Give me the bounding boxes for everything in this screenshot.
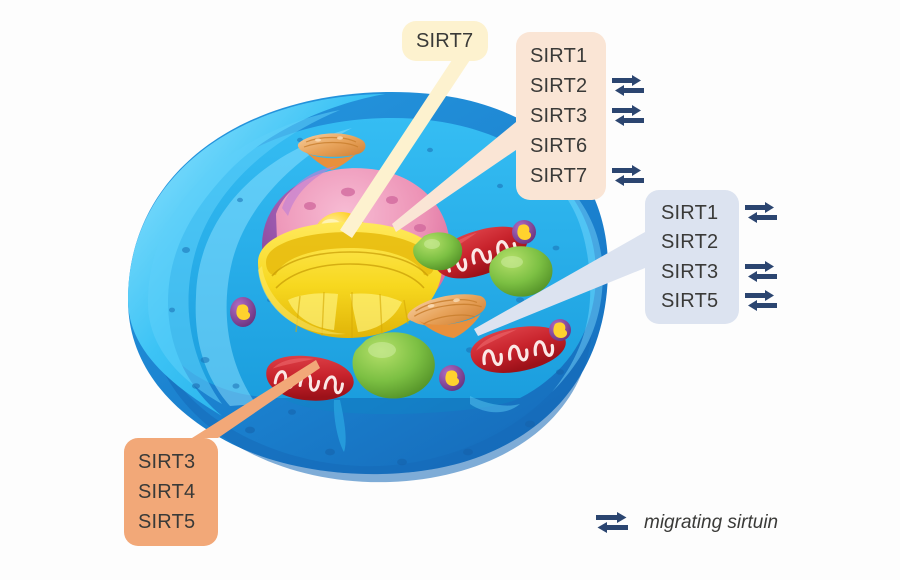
callout-nucleolus[interactable]: SIRT7 xyxy=(402,21,488,61)
callout-nucleus[interactable]: SIRT1 SIRT2 SIRT3 SIRT6 SIRT xyxy=(516,32,606,200)
callout-row: SIRT6 xyxy=(530,131,606,161)
sirtuin-label: SIRT3 xyxy=(138,452,195,472)
callout-row: SIRT5 xyxy=(138,507,218,537)
migrating-sirtuin-arrow-icon xyxy=(741,261,781,283)
callout-row: SIRT1 xyxy=(530,41,606,71)
leader-nucleolus xyxy=(340,60,470,238)
legend-label: migrating sirtuin xyxy=(644,512,778,534)
sirtuin-label: SIRT4 xyxy=(138,482,195,502)
legend: migrating sirtuin xyxy=(590,512,778,534)
sirtuin-label: SIRT7 xyxy=(530,166,587,186)
sirtuin-label: SIRT3 xyxy=(661,262,718,282)
sirtuin-label: SIRT1 xyxy=(530,46,587,66)
migrating-sirtuin-arrow-icon xyxy=(741,290,781,312)
sirtuin-label: SIRT2 xyxy=(661,232,718,252)
callout-row: SIRT4 xyxy=(138,477,218,507)
sirtuin-label: SIRT1 xyxy=(661,203,718,223)
callout-row: SIRT7 xyxy=(416,26,488,56)
callout-cytoplasm[interactable]: SIRT1 SIRT2 SIRT3 SIRT5 xyxy=(645,190,739,324)
migrating-sirtuin-arrow-icon xyxy=(608,165,648,187)
callout-row: SIRT3 xyxy=(530,101,606,131)
sirtuin-label: SIRT6 xyxy=(530,136,587,156)
migrating-sirtuin-arrow-icon xyxy=(590,512,632,534)
callout-row: SIRT5 xyxy=(661,287,739,317)
callout-row: SIRT2 xyxy=(661,228,739,258)
callout-row: SIRT3 xyxy=(138,447,218,477)
sirtuin-label: SIRT3 xyxy=(530,106,587,126)
callout-mitochondrion[interactable]: SIRT3 SIRT4 SIRT5 xyxy=(124,438,218,546)
callout-row: SIRT3 xyxy=(661,257,739,287)
migrating-sirtuin-arrow-icon xyxy=(608,75,648,97)
leader-mitochondrion xyxy=(192,360,320,438)
sirtuin-label: SIRT5 xyxy=(661,291,718,311)
callout-row: SIRT7 xyxy=(530,161,606,191)
migrating-sirtuin-arrow-icon xyxy=(741,202,781,224)
sirtuin-label: SIRT5 xyxy=(138,512,195,532)
leader-cytoplasm xyxy=(474,232,645,336)
callout-row: SIRT1 xyxy=(661,198,739,228)
figure-canvas: SIRT7 SIRT1 SIRT2 SIRT3 xyxy=(0,0,900,580)
migrating-sirtuin-arrow-icon xyxy=(608,105,648,127)
sirtuin-label: SIRT7 xyxy=(416,31,473,51)
callout-row: SIRT2 xyxy=(530,71,606,101)
sirtuin-label: SIRT2 xyxy=(530,76,587,96)
